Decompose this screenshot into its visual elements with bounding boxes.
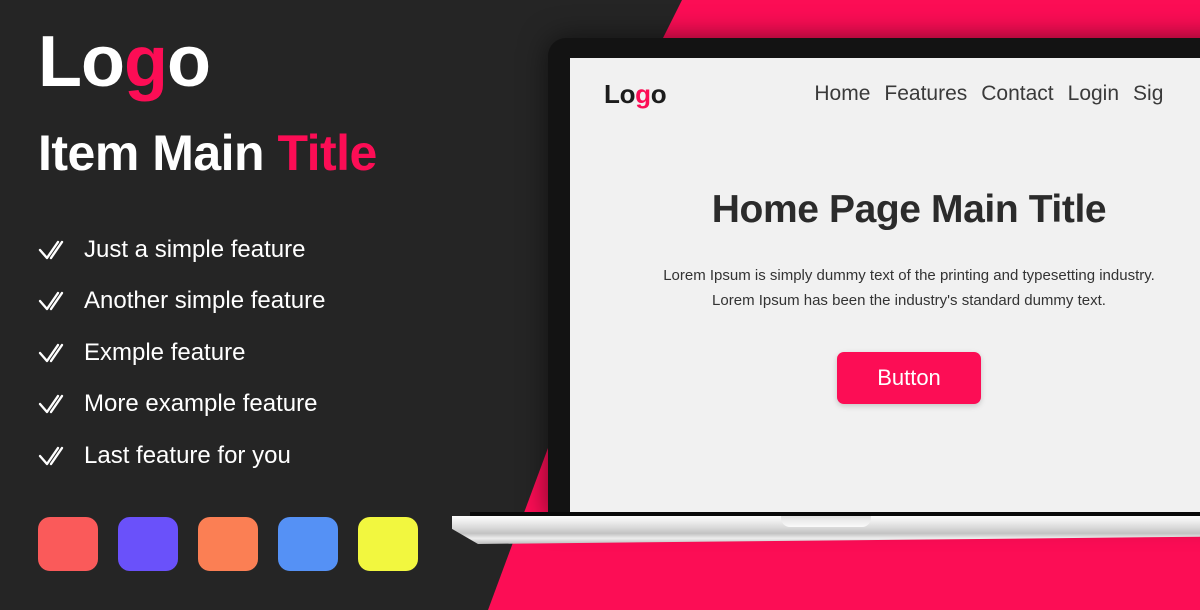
laptop-base [452, 516, 1200, 544]
double-check-icon [38, 393, 72, 415]
promo-banner: Logo Item Main Title Just a simple featu… [0, 0, 1200, 610]
list-item-label: More example feature [84, 390, 317, 418]
feature-list: Just a simple feature Another simple fea… [38, 224, 508, 482]
double-check-icon [38, 342, 72, 364]
list-item-label: Exmple feature [84, 339, 245, 367]
swatch-orange [198, 517, 258, 571]
hero-section: Home Page Main Title Lorem Ipsum is simp… [570, 188, 1200, 404]
list-item: Another simple feature [38, 276, 508, 328]
brand-logo-prefix: Lo [38, 22, 124, 102]
swatch-yellow [358, 517, 418, 571]
hero-title: Home Page Main Title [570, 188, 1200, 232]
nav-link-contact[interactable]: Contact [981, 82, 1053, 106]
laptop-mockup: Logo Home Features Contact Login Sig Hom… [548, 38, 1200, 518]
double-check-icon [38, 290, 72, 312]
hero-paragraph-line-1: Lorem Ipsum is simply dummy text of the … [570, 264, 1200, 289]
cta-button[interactable]: Button [837, 352, 981, 404]
site-navbar: Logo Home Features Contact Login Sig [570, 58, 1200, 130]
site-logo-prefix: Lo [604, 79, 635, 109]
nav-link-features[interactable]: Features [884, 82, 967, 106]
nav-links: Home Features Contact Login Sig [814, 82, 1163, 106]
list-item-label: Another simple feature [84, 287, 325, 315]
brand-logo-accent: g [124, 22, 167, 102]
nav-link-home[interactable]: Home [814, 82, 870, 106]
list-item: Exmple feature [38, 327, 508, 379]
brand-logo: Logo [38, 26, 210, 98]
page-title-accent: Title [277, 125, 376, 181]
hero-paragraph-line-2: Lorem Ipsum has been the industry's stan… [570, 289, 1200, 314]
nav-link-login[interactable]: Login [1068, 82, 1119, 106]
double-check-icon [38, 445, 72, 467]
site-logo-accent: g [635, 79, 651, 109]
hero-paragraph: Lorem Ipsum is simply dummy text of the … [570, 264, 1200, 314]
swatch-blue [278, 517, 338, 571]
list-item: Just a simple feature [38, 224, 508, 276]
laptop-screen: Logo Home Features Contact Login Sig Hom… [570, 58, 1200, 518]
double-check-icon [38, 239, 72, 261]
swatch-purple [118, 517, 178, 571]
nav-link-signup[interactable]: Sig [1133, 82, 1163, 106]
site-logo[interactable]: Logo [604, 79, 666, 110]
list-item-label: Last feature for you [84, 442, 291, 470]
swatch-red [38, 517, 98, 571]
color-swatch-row [38, 517, 418, 571]
brand-logo-suffix: o [167, 22, 210, 102]
page-title-plain: Item Main [38, 125, 277, 181]
list-item: More example feature [38, 379, 508, 431]
site-logo-suffix: o [651, 79, 667, 109]
page-title: Item Main Title [38, 128, 377, 178]
list-item-label: Just a simple feature [84, 236, 305, 264]
list-item: Last feature for you [38, 430, 508, 482]
laptop-base-notch [781, 516, 871, 527]
